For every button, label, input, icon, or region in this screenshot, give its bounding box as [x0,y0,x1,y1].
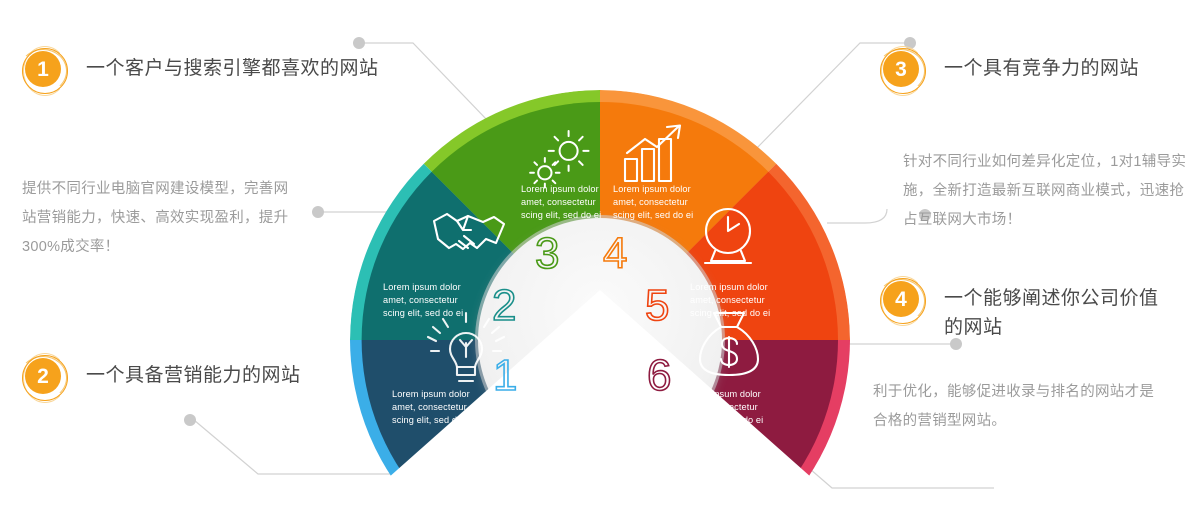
center-number-4: 4 [603,229,627,278]
svg-text:scing elit, sed do ei: scing elit, sed do ei [613,210,693,220]
svg-text:amet, consectetur: amet, consectetur [613,197,688,207]
svg-text:scing elit, sed do ei: scing elit, sed do ei [383,308,463,318]
svg-text:amet, consectetur: amet, consectetur [392,402,467,412]
svg-text:scing elit, sed do ei: scing elit, sed do ei [521,210,601,220]
segment-label-3: Lorem ipsum dolor amet, consectetur scin… [521,184,601,220]
infographic-stage: 1 一个客户与搜索引擎都喜欢的网站 提供不同行业电脑官网建设模型，完善网站营销能… [0,0,1200,520]
svg-text:scing elit, sed do ei: scing elit, sed do ei [683,415,763,425]
callout-4[interactable]: 4 一个能够阐述你公司价值的网站 [880,278,1170,343]
svg-text:amet, consectetur: amet, consectetur [383,295,458,305]
svg-text:Lorem ipsum dolor: Lorem ipsum dolor [690,282,768,292]
center-number-3: 3 [535,229,559,278]
svg-text:amet, consectetur: amet, consectetur [683,402,758,412]
svg-text:scing elit, sed do ei: scing elit, sed do ei [690,308,770,318]
callout-1-title: 一个客户与搜索引擎都喜欢的网站 [86,48,379,83]
callout-4-title: 一个能够阐述你公司价值的网站 [944,278,1159,343]
center-number-5: 5 [645,281,669,330]
svg-text:scing elit, sed do ei: scing elit, sed do ei [392,415,472,425]
callout-2-title: 一个具备营销能力的网站 [86,355,301,390]
callout-2[interactable]: 2 一个具备营销能力的网站 [22,355,362,401]
svg-text:amet, consectetur: amet, consectetur [690,295,765,305]
segment-label-6: Lorem ipsum dolor amet, consectetur scin… [683,389,763,425]
segment-label-4: Lorem ipsum dolor amet, consectetur scin… [613,184,693,220]
callout-3[interactable]: 3 一个具有竞争力的网站 [880,48,1190,94]
callout-4-number: 4 [883,281,919,317]
callout-2-badge: 2 [22,355,68,401]
segment-label-5: Lorem ipsum dolor amet, consectetur scin… [690,282,770,318]
callout-4-body: 利于优化，能够促进收录与排名的网站才是合格的营销型网站。 [873,378,1163,436]
callout-3-badge: 3 [880,48,926,94]
svg-text:Lorem ipsum dolor: Lorem ipsum dolor [392,389,470,399]
callout-4-badge: 4 [880,278,926,324]
svg-text:Lorem ipsum dolor: Lorem ipsum dolor [613,184,691,194]
callout-3-body: 针对不同行业如何差异化定位，1对1辅导实施，全新打造最新互联网商业模式，迅速抢占… [903,148,1188,235]
segment-label-1: Lorem ipsum dolor amet, consectetur scin… [392,389,472,425]
callout-1-badge: 1 [22,48,68,94]
callout-3-title: 一个具有竞争力的网站 [944,48,1139,83]
center-number-2: 2 [492,281,516,330]
callout-2-number: 2 [25,358,61,394]
donut-arch-chart: Lorem ipsum dolor amet, consectetur scin… [345,85,855,520]
svg-text:Lorem ipsum dolor: Lorem ipsum dolor [383,282,461,292]
svg-text:amet, consectetur: amet, consectetur [521,197,596,207]
svg-text:Lorem ipsum dolor: Lorem ipsum dolor [683,389,761,399]
callout-3-number: 3 [883,51,919,87]
center-number-1: 1 [493,351,517,400]
svg-text:Lorem ipsum dolor: Lorem ipsum dolor [521,184,599,194]
callout-1-body: 提供不同行业电脑官网建设模型，完善网站营销能力，快速、高效实现盈利，提升300%… [22,175,302,262]
segment-label-2: Lorem ipsum dolor amet, consectetur scin… [383,282,463,318]
center-number-6: 6 [647,351,671,400]
callout-1-number: 1 [25,51,61,87]
